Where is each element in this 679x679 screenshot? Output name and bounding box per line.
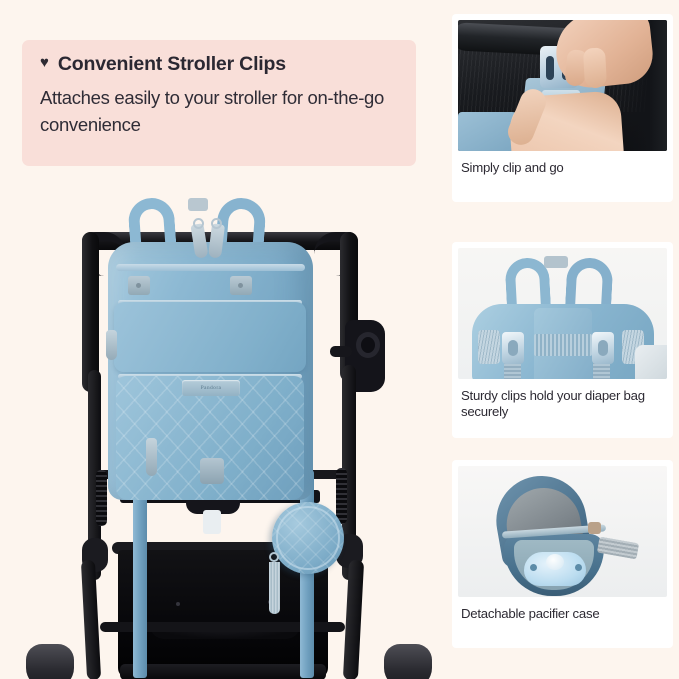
bag-tab-rivet xyxy=(238,283,243,288)
clip-detail-right xyxy=(598,340,608,356)
bag-mesh-pad-left xyxy=(478,330,500,364)
left-column: ♥ Convenient Stroller Clips Attaches eas… xyxy=(0,0,440,679)
thumbnail-photo-sturdy-clips xyxy=(458,248,667,379)
bag-side-tab-left xyxy=(128,276,150,295)
callout-title: Convenient Stroller Clips xyxy=(58,53,286,76)
stroller-wheel-left xyxy=(26,644,74,679)
stroller-accessory-holder-arm xyxy=(330,346,352,357)
thumbnail-caption: Detachable pacifier case xyxy=(461,606,667,622)
bag-side-tab-right xyxy=(230,276,252,295)
photo-corner-highlight xyxy=(635,345,667,379)
bag-zipper-ring-left xyxy=(193,218,204,229)
pacifier-nipple xyxy=(546,554,564,570)
clip-slot-left xyxy=(546,56,554,80)
bag-handle-wrap xyxy=(188,198,208,211)
thumbnail-card[interactable]: Detachable pacifier case xyxy=(452,460,673,648)
stroller-wheel-right xyxy=(384,644,432,679)
thumbnail-caption: Sturdy clips hold your diaper bag secure… xyxy=(461,388,667,421)
bag-front-pocket xyxy=(114,302,306,372)
thumbnail-photo-clip-and-go xyxy=(458,20,667,151)
bag-tab-rivet xyxy=(136,283,141,288)
bag-brand-logo-text: Pandora xyxy=(182,380,240,396)
callout-heading-row: ♥ Convenient Stroller Clips xyxy=(40,53,394,76)
callout-subtitle: Attaches easily to your stroller for on-… xyxy=(40,84,394,138)
pacifier-vent-hole xyxy=(575,564,582,571)
bag-brand-logo: Pandora xyxy=(182,380,240,396)
thumbnail-column: Simply clip and go Sturdy clips hold you… xyxy=(446,0,679,679)
thumbnail-caption: Simply clip and go xyxy=(461,160,667,176)
pacifier-vent-hole xyxy=(530,564,537,571)
bag-side-zipper-pull xyxy=(106,330,117,360)
bag-back-mesh-strip xyxy=(534,334,592,356)
stroller-coil-right xyxy=(336,468,347,524)
hero-product-image: Pandora xyxy=(0,170,440,679)
pacifier-case-tassel xyxy=(269,562,280,614)
thumbnail-card[interactable]: Sturdy clips hold your diaper bag secure… xyxy=(452,242,673,438)
stroller-frame-left-upright xyxy=(82,232,99,392)
stroller-accessory-holder-ring xyxy=(356,332,380,358)
thumbnail-photo-pacifier-case xyxy=(458,466,667,597)
bag-zipper-ring-right xyxy=(211,218,222,229)
bag-front-center-tab xyxy=(200,458,224,484)
pacifier-case-zipper-ring xyxy=(269,552,279,562)
bag-strap-left xyxy=(133,470,147,678)
pacifier-case-rim xyxy=(276,506,340,570)
stroller-footrest-bar xyxy=(120,664,326,679)
feature-callout: ♥ Convenient Stroller Clips Attaches eas… xyxy=(22,40,416,166)
diaper-backpack: Pandora xyxy=(108,180,313,500)
thumbnail-card[interactable]: Simply clip and go xyxy=(452,14,673,202)
clip-detail-left xyxy=(508,340,518,356)
finger xyxy=(583,47,607,88)
basket-rivet xyxy=(176,602,180,606)
stroller-buckle-tab xyxy=(203,510,221,534)
heart-icon: ♥ xyxy=(40,55,49,70)
bag-handle-wrap xyxy=(544,256,568,268)
pacifier-case-zipper-pull xyxy=(588,522,601,534)
bag-top-zipper xyxy=(116,264,305,271)
stroller-coil-left xyxy=(96,470,107,526)
bag-lower-zipper-pull xyxy=(146,438,157,476)
